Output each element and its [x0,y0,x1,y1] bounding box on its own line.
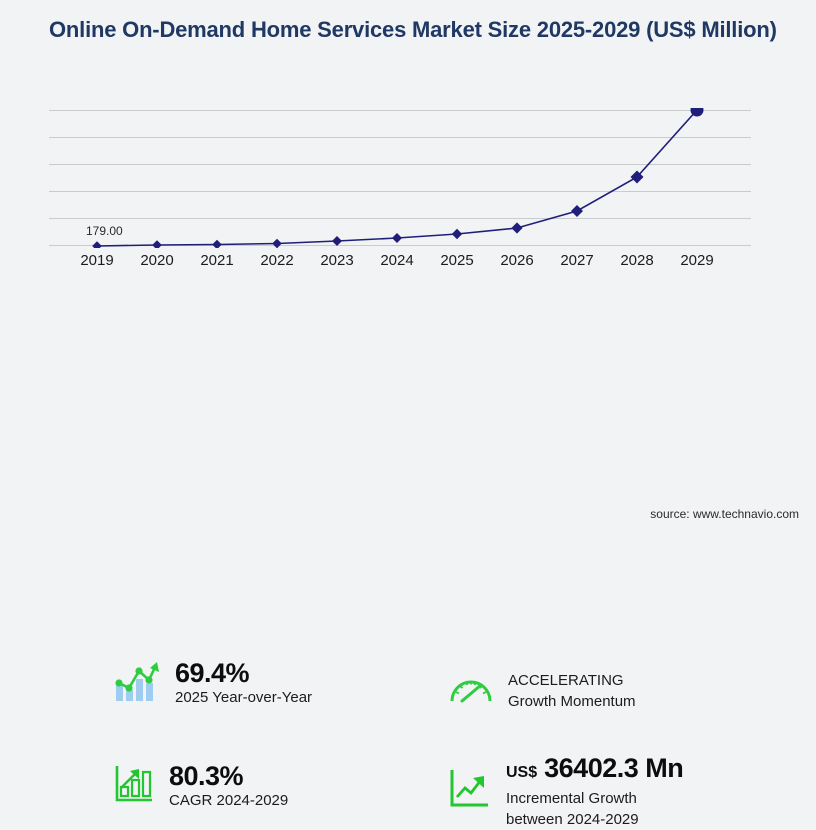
x-tick-2019: 2019 [67,252,127,269]
page-title: Online On-Demand Home Services Market Si… [49,16,779,44]
incremental-amount: 36402.3 Mn [544,753,683,783]
x-tick-2027: 2027 [547,252,607,269]
currency-unit: US$ [506,764,537,781]
speedometer-icon [448,668,494,713]
bar-chart-arrow-icon [113,763,155,810]
stat-incremental: US$ 36402.3 Mn Incremental Growth betwee… [448,753,683,830]
x-tick-2028: 2028 [607,252,667,269]
x-tick-2022: 2022 [247,252,307,269]
stat-cagr-value: 80.3% [169,761,288,791]
stat-cagr-caption: CAGR 2024-2029 [169,791,288,811]
stat-yoy-value: 69.4% [175,658,312,688]
line-chart-arrow-icon [448,767,492,816]
x-tick-2023: 2023 [307,252,367,269]
chart-data-markers [92,108,703,248]
x-tick-2024: 2024 [367,252,427,269]
bar-chart-growth-icon [113,659,161,708]
stat-cagr: 80.3% CAGR 2024-2029 [113,761,288,811]
stat-incremental-value: US$ 36402.3 Mn [506,753,683,788]
stat-incremental-caption-line1: Incremental Growth [506,788,683,809]
stat-momentum: ACCELERATING Growth Momentum [448,668,636,713]
stat-yoy: 69.4% 2025 Year-over-Year [113,658,312,708]
x-tick-2026: 2026 [487,252,547,269]
source-attribution: source: www.technavio.com [650,507,799,521]
data-point-label-2019: 179.00 [86,224,123,238]
x-tick-2025: 2025 [427,252,487,269]
chart-panel: Online On-Demand Home Services Market Si… [0,0,816,318]
chart-x-axis: 2019 2020 2021 2022 2023 2024 2025 2026 … [49,252,751,276]
chart-plot-area [49,108,751,248]
stat-yoy-caption: 2025 Year-over-Year [175,688,312,708]
x-tick-2029: 2029 [667,252,727,269]
stat-momentum-caption: Growth Momentum [508,691,636,712]
stat-incremental-caption-line2: between 2024-2029 [506,809,683,830]
x-tick-2020: 2020 [127,252,187,269]
chart-line-series [49,108,751,248]
stat-momentum-value: ACCELERATING [508,670,636,691]
x-tick-2021: 2021 [187,252,247,269]
stats-panel: 69.4% 2025 Year-over-Year 80.3% CAGR 202… [0,318,816,528]
